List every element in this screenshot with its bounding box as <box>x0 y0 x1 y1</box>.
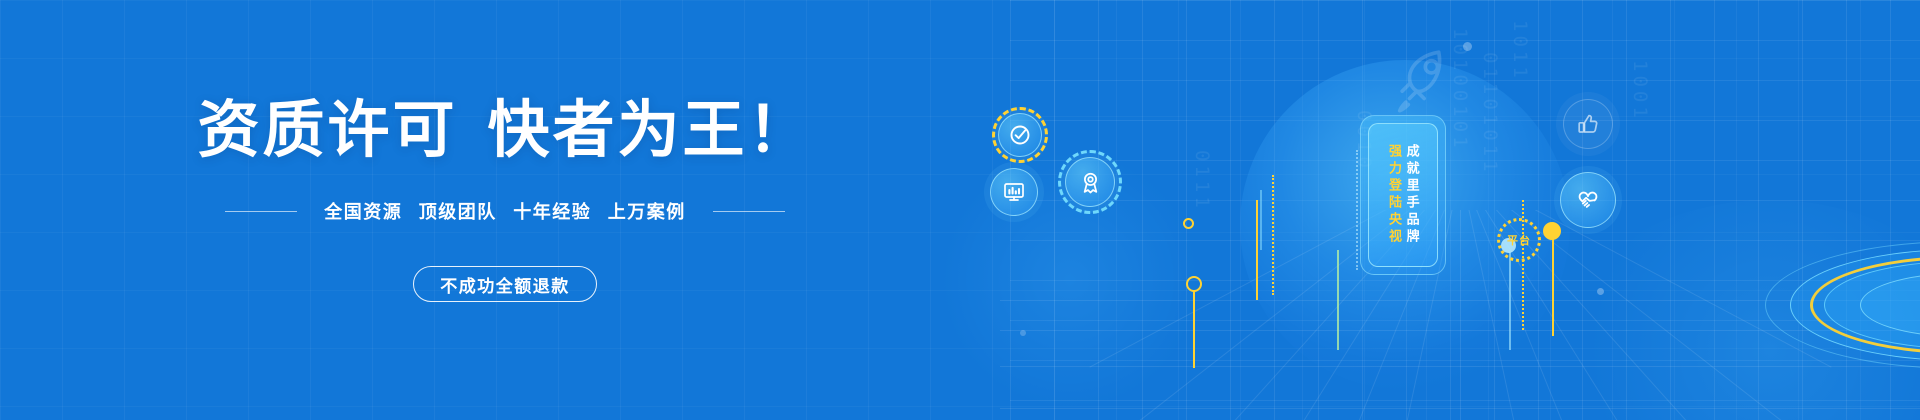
platform-base <box>1790 250 1920 360</box>
promo-banner: 10100101 01101011 1011 0010 1001 0111 资质… <box>0 0 1920 420</box>
pin-stem-cyan-2 <box>1509 252 1511 350</box>
page-title: 资质许可快者为王！ <box>0 100 1010 162</box>
dashed-ring-cyan <box>1058 150 1122 214</box>
monitor-chart-icon[interactable] <box>990 168 1038 216</box>
platform-label-badge: 平台 <box>1497 218 1541 262</box>
subtitle-row: 全国资源 顶级团队 十年经验 上万案例 <box>0 198 1010 224</box>
pin-stem-gold-2 <box>1256 200 1258 300</box>
headline-part-2: 快者为王！ <box>488 96 813 165</box>
platform-label-text: 平台 <box>1507 232 1531 248</box>
rule-right <box>713 211 785 212</box>
subtitle: 全国资源 顶级团队 十年经验 上万案例 <box>319 198 691 224</box>
pin-dotted-white-1 <box>1356 150 1358 270</box>
rule-left <box>225 211 297 212</box>
pin-stem-gold-1 <box>1193 290 1195 368</box>
award-medal-icon[interactable] <box>1065 157 1115 207</box>
scatter-dot-1 <box>1463 42 1472 51</box>
phone-card: 强力登陆央视 成就里手品牌 <box>1360 115 1446 275</box>
check-circle-icon[interactable] <box>998 113 1042 157</box>
dashed-ring-gold <box>992 107 1048 163</box>
thumbs-up-icon[interactable] <box>1563 99 1613 149</box>
scatter-dot-3 <box>1597 288 1604 295</box>
handshake-heart-icon[interactable] <box>1560 172 1616 228</box>
pin-dotted-gold-1 <box>1272 175 1274 295</box>
subtitle-item-0: 全国资源 <box>324 202 402 222</box>
copy-block: 资质许可快者为王！ 全国资源 顶级团队 十年经验 上万案例 不成功全额退款 <box>0 0 1010 420</box>
phone-text-right: 成就里手品牌 <box>1405 144 1419 246</box>
pin-head-gold-1 <box>1186 276 1202 292</box>
pin-head-gold-2 <box>1543 222 1561 240</box>
pin-stem-cyan-1 <box>1260 190 1262 250</box>
refund-guarantee-button[interactable]: 不成功全额退款 <box>413 266 597 302</box>
subtitle-item-2: 十年经验 <box>513 202 591 222</box>
scatter-dot-2 <box>1183 218 1194 229</box>
cta-row: 不成功全额退款 <box>0 266 1010 302</box>
subtitle-item-3: 上万案例 <box>608 202 686 222</box>
pin-stem-green-1 <box>1337 250 1339 350</box>
phone-screen: 强力登陆央视 成就里手品牌 <box>1368 123 1438 267</box>
scatter-dot-4 <box>1020 330 1026 336</box>
subtitle-item-1: 顶级团队 <box>419 202 497 222</box>
phone-text-left: 强力登陆央视 <box>1387 144 1401 246</box>
headline-part-1: 资质许可 <box>197 96 457 165</box>
pin-stem-gold-3 <box>1552 236 1554 336</box>
